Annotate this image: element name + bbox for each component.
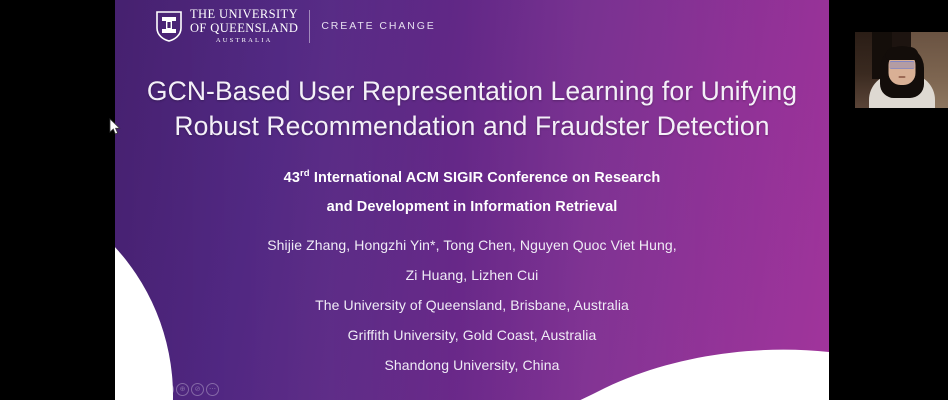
conference-number: 43 [284, 170, 300, 186]
slide-title-line2: Robust Recommendation and Fraudster Dete… [137, 109, 807, 144]
conference-line2: and Development in Information Retrieval [137, 193, 807, 222]
slide-title-line1: GCN-Based User Representation Learning f… [137, 74, 807, 109]
eraser-tool-icon[interactable]: ⊘ [191, 383, 204, 396]
pointer-tool-icon[interactable]: ↖ [116, 383, 129, 396]
uq-wordmark-country: AUSTRALIA [190, 38, 298, 45]
slide-text-block: GCN-Based User Representation Learning f… [115, 74, 829, 380]
logo-divider [309, 10, 310, 43]
more-options-icon[interactable]: ⋯ [206, 383, 219, 396]
affiliation-line-3: Shandong University, China [137, 350, 807, 380]
screen-share-window: THE UNIVERSITY OF QUEENSLAND AUSTRALIA C… [0, 0, 948, 400]
affiliation-line-2: Griffith University, Gold Coast, Austral… [137, 320, 807, 350]
uq-wordmark-line1: THE UNIVERSITY [190, 8, 298, 21]
annotation-toolbar[interactable]: ↖◎✐▭⊕⊘⋯ [116, 383, 219, 396]
authors-line1: Shijie Zhang, Hongzhi Yin*, Tong Chen, N… [137, 230, 807, 260]
conference-line1-rest: International ACM SIGIR Conference on Re… [310, 170, 661, 186]
uq-wordmark: THE UNIVERSITY OF QUEENSLAND AUSTRALIA [190, 8, 298, 45]
participant-video-thumbnail[interactable] [855, 32, 948, 108]
video-person-glasses [889, 61, 914, 69]
stamp-tool-icon[interactable]: ⊕ [176, 383, 189, 396]
shape-tool-icon[interactable]: ▭ [161, 383, 174, 396]
uq-tagline: CREATE CHANGE [321, 20, 435, 32]
video-person-mouth [898, 76, 905, 78]
mouse-pointer-icon [109, 118, 121, 136]
authors-line2: Zi Huang, Lizhen Cui [137, 260, 807, 290]
pen-tool-icon[interactable]: ✐ [146, 383, 159, 396]
affiliation-line-1: The University of Queensland, Brisbane, … [137, 290, 807, 320]
laser-tool-icon[interactable]: ◎ [131, 383, 144, 396]
uq-wordmark-line2: OF QUEENSLAND [190, 22, 298, 35]
video-person-fringe [885, 47, 918, 60]
conference-ordinal: rd [300, 168, 310, 179]
presentation-slide[interactable]: THE UNIVERSITY OF QUEENSLAND AUSTRALIA C… [115, 0, 829, 400]
uq-logo-lockup: THE UNIVERSITY OF QUEENSLAND AUSTRALIA C… [156, 6, 436, 46]
conference-line1: 43rd International ACM SIGIR Conference … [137, 164, 807, 193]
uq-shield-icon [156, 11, 182, 42]
